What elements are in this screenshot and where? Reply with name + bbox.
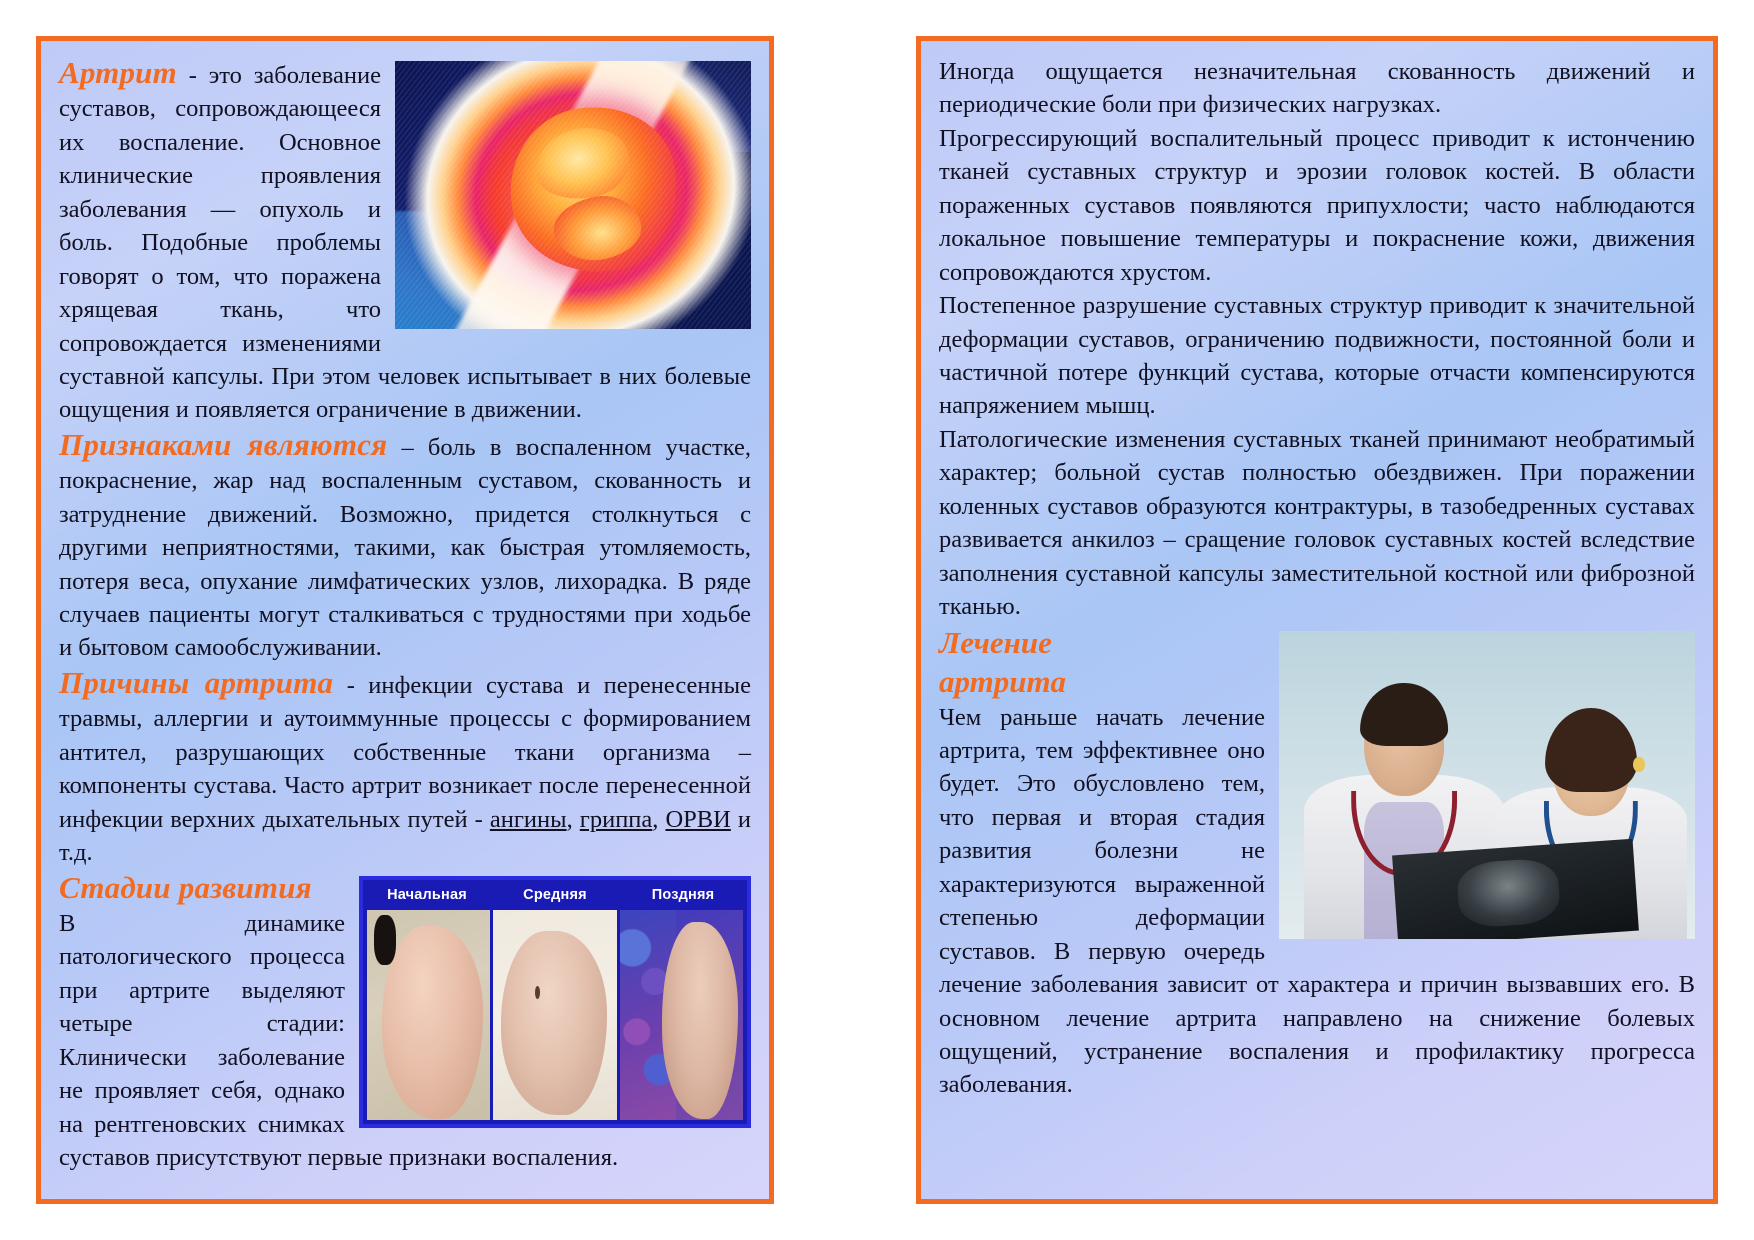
right-panel: Иногда ощущается незначительная скованно… [916,36,1718,1204]
treatment-flow: Лечение артрита Чем раньше начать лечени… [939,625,1695,1101]
doctors-image-wrapper [1279,631,1695,939]
right-paragraph-3: Постепенное разрушение суставных структу… [939,289,1695,423]
doctors-reviewing-xray-image [1279,631,1695,939]
stage-label-late: Поздняя [619,887,747,903]
link-orvi[interactable]: ОРВИ [665,806,730,833]
link-angina[interactable]: ангины [490,806,567,833]
earring-icon [1633,757,1644,772]
right-paragraph-1: Иногда ощущается незначительная скованно… [939,55,1695,122]
link-grippa[interactable]: гриппа [580,806,653,833]
left-panel-flow: Артрит - это заболевание суставов, сопро… [59,55,751,870]
stages-flow: Начальная Средняя Поздняя [59,870,751,1175]
right-paragraph-4: Патологические изменения суставных ткане… [939,423,1695,624]
stages-image-wrapper: Начальная Средняя Поздняя [359,876,751,1128]
heading-stages: Стадии развития [59,870,312,905]
heading-arthritis: Артрит [59,55,177,90]
male-hair [1360,683,1448,747]
hand-shape-initial [382,926,483,1119]
section-causes: Причины артрита - инфекции сустава и пер… [59,665,751,870]
section-signs: Признаками являются – боль в воспаленном… [59,427,751,665]
causes-separator-2: , [652,806,665,833]
thermal-knee-joint-image [395,61,751,329]
stage-photo-initial [367,910,490,1120]
arthritis-hand-stages-image: Начальная Средняя Поздняя [359,876,751,1128]
stage-label-middle: Средняя [491,887,619,903]
hand-shape-middle [501,931,607,1116]
stages-photo-row [363,910,747,1124]
hand-shape-late [662,922,738,1119]
causes-separator-1: , [567,806,580,833]
right-paragraph-2: Прогрессирующий воспалительный процесс п… [939,122,1695,289]
knee-image-wrapper [395,61,751,329]
section-signs-text: – боль в воспаленном участке, покраснени… [59,434,751,662]
stage-photo-late [620,910,743,1120]
stages-label-row: Начальная Средняя Поздняя [363,880,747,910]
left-panel: Артрит - это заболевание суставов, сопро… [36,36,774,1204]
brochure-page: Артрит - это заболевание суставов, сопро… [0,0,1754,1240]
heading-signs: Признаками являются [59,427,387,462]
heading-causes: Причины артрита [59,665,333,700]
xray-film [1393,839,1640,940]
stage-label-initial: Начальная [363,887,491,903]
female-hair [1545,708,1637,792]
stage-photo-middle [493,910,616,1120]
